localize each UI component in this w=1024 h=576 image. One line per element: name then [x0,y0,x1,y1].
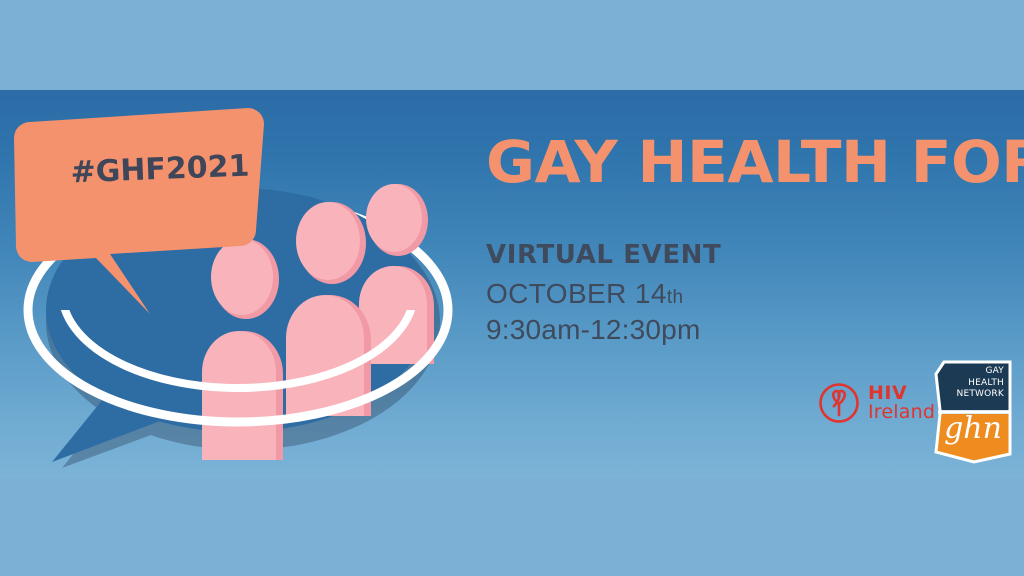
gay-health-network-logo: GAY HEALTH NETWORK ghn [934,360,1012,464]
hiv-ireland-wordmark: HIV Ireland [868,384,935,423]
bottom-background-band [0,478,1024,576]
ghn-monogram: ghn [934,412,1012,446]
event-banner: #GHF2021 GAY HEALTH FORUM VIRTUAL EVENT … [0,0,1024,576]
hiv-ribbon-icon [818,382,860,424]
ghn-logo-line1: GAY [942,366,1004,378]
hiv-logo-line2: Ireland [868,403,935,422]
ghn-logo-line3: NETWORK [942,389,1004,401]
event-copy-block: GAY HEALTH FORUM VIRTUAL EVENT OCTOBER 1… [486,132,1006,346]
logo-group: HIV Ireland GAY HEALTH NETWORK ghn [810,360,1016,470]
hiv-ireland-logo: HIV Ireland [818,382,935,424]
top-background-band [0,0,1024,90]
ghn-logo-line2: HEALTH [942,378,1004,390]
event-format-label: VIRTUAL EVENT [486,240,1006,270]
event-date: OCTOBER 14th [486,278,1006,310]
event-date-ordinal: th [667,287,684,308]
event-time: 9:30am-12:30pm [486,314,1006,346]
person-figure-left [202,239,283,460]
page-title: GAY HEALTH FORUM [486,132,1022,192]
ghn-wordmark: GAY HEALTH NETWORK [942,366,1004,401]
event-date-main: OCTOBER 14 [486,278,667,309]
